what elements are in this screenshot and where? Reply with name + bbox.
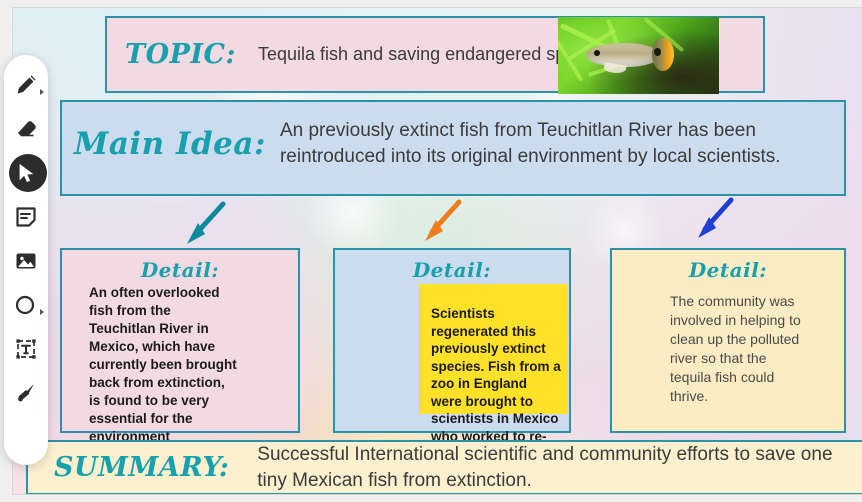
summary-box[interactable]: SUMMARY: Successful International scient…	[26, 440, 862, 494]
detail-3-text: The community was involved in helping to…	[670, 292, 805, 406]
arrow-to-detail-2	[417, 198, 465, 246]
main-idea-text: An previously extinct fish from Teuchitl…	[280, 118, 844, 170]
sticky-note[interactable]: Scientists regenerated this previously e…	[419, 284, 568, 414]
detail-2-label: Detail:	[335, 258, 569, 282]
sticky-note-icon[interactable]	[7, 195, 45, 239]
detail-1-text: An often overlooked fish from the Teuchi…	[89, 284, 239, 446]
detail-3-label: Detail:	[612, 258, 844, 282]
eraser-icon[interactable]	[7, 107, 45, 151]
detail-box-3[interactable]: Detail: The community was involved in he…	[610, 248, 846, 433]
image-icon[interactable]	[7, 239, 45, 283]
topic-label: TOPIC:	[125, 39, 236, 70]
arrow-to-detail-3	[689, 196, 737, 244]
topic-box[interactable]: TOPIC: Tequila fish and saving endangere…	[105, 16, 765, 93]
shape-submenu-caret[interactable]	[40, 309, 44, 315]
topic-text: Tequila fish and saving endangered speci…	[258, 42, 607, 67]
shape-circle-icon[interactable]	[7, 283, 45, 327]
laser-pointer-icon[interactable]	[7, 371, 45, 415]
tool-palette[interactable]	[4, 55, 48, 465]
main-idea-box[interactable]: Main Idea: An previously extinct fish fr…	[60, 100, 846, 196]
summary-label: SUMMARY:	[54, 452, 229, 483]
arrow-to-detail-1	[181, 200, 229, 248]
fish-photo	[558, 17, 719, 94]
text-box-icon[interactable]	[7, 327, 45, 371]
summary-text: Successful International scientific and …	[257, 442, 862, 494]
worksheet-canvas[interactable]: TOPIC: Tequila fish and saving endangere…	[13, 8, 862, 494]
pen-submenu-caret[interactable]	[40, 89, 44, 95]
topic-image[interactable]	[558, 17, 719, 94]
detail-1-label: Detail:	[62, 258, 298, 282]
marker-pen-icon[interactable]	[7, 63, 45, 107]
main-idea-label: Main Idea:	[74, 126, 266, 162]
cursor-select-icon[interactable]	[7, 151, 45, 195]
detail-box-1[interactable]: Detail: An often overlooked fish from th…	[60, 248, 300, 433]
detail-box-2[interactable]: Detail: Scientists regenerated this prev…	[333, 248, 571, 433]
whiteboard-app: TOPIC: Tequila fish and saving endangere…	[0, 0, 862, 502]
